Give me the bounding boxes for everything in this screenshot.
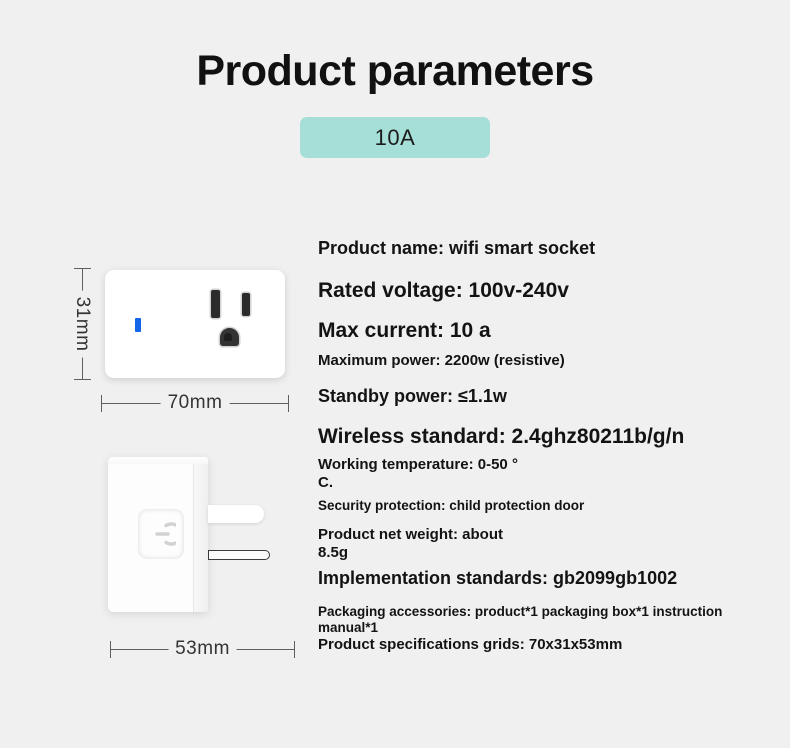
page-title: Product parameters [0, 48, 790, 95]
spec-item: Maximum power: 2200w (resistive) [318, 352, 565, 370]
power-button-icon [146, 519, 176, 549]
spec-item: Security protection: child protection do… [318, 498, 584, 514]
spec-item: Implementation standards: gb2099gb1002 [318, 568, 677, 590]
product-illustrations: 31mm 70mm [0, 250, 310, 680]
dimension-cap-bottom [74, 379, 91, 380]
socket-front-view [105, 270, 285, 378]
socket-side-view [108, 457, 222, 612]
dimension-depth: 53mm [110, 638, 295, 660]
dimension-width-label: 70mm [161, 392, 230, 414]
power-button [138, 509, 184, 559]
specification-list: Product name: wifi smart socket Rated vo… [318, 238, 784, 668]
dimension-height-label: 31mm [71, 291, 93, 358]
spec-item: Max current: 10 a [318, 318, 491, 344]
spec-item: Packaging accessories: product*1 packagi… [318, 604, 784, 637]
spec-item: Working temperature: 0-50 ° C. [318, 456, 518, 493]
spec-item: Rated voltage: 100v-240v [318, 278, 569, 304]
spec-item: Standby power: ≤1.1w [318, 386, 507, 408]
upper-blade-prong-icon [208, 505, 264, 523]
dimension-cap-left [101, 395, 102, 412]
dimension-cap-left [110, 641, 111, 658]
product-parameters-page: Product parameters 10A 31mm 70mm [0, 0, 790, 748]
dimension-cap-right [288, 395, 289, 412]
dimension-height: 31mm [71, 268, 93, 380]
spec-item: Wireless standard: 2.4ghz80211b/g/n [318, 424, 684, 450]
power-led-indicator-icon [135, 318, 141, 332]
lower-blade-prong-icon [208, 550, 270, 560]
spec-item: Product name: wifi smart socket [318, 238, 595, 260]
dimension-cap-top [74, 268, 91, 269]
neutral-slot-icon [211, 290, 220, 318]
ground-pin-hole-icon [220, 328, 239, 346]
spec-item: Product specifications grids: 70x31x53mm [318, 636, 622, 654]
badge-container: 10A [0, 117, 790, 158]
dimension-width: 70mm [101, 392, 289, 414]
dimension-cap-right [294, 641, 295, 658]
live-slot-icon [242, 293, 250, 316]
socket-body [108, 457, 208, 612]
dimension-depth-label: 53mm [168, 638, 237, 660]
spec-item: Product net weight: about 8.5g [318, 526, 503, 563]
current-rating-badge: 10A [300, 117, 490, 158]
